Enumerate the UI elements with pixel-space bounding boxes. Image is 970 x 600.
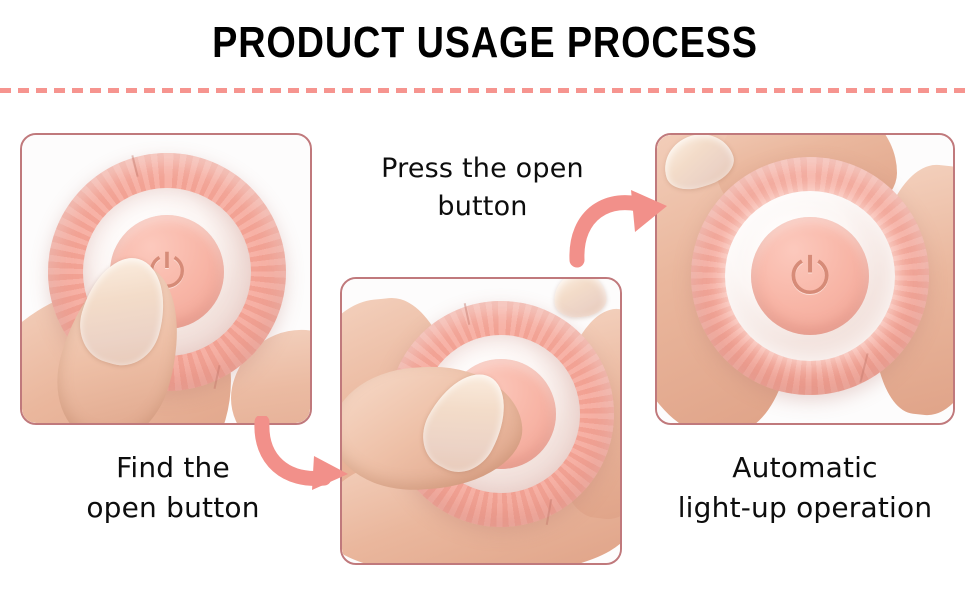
- step-3-photo: ⏻: [657, 135, 953, 423]
- step-1-photo: ⏻: [22, 135, 310, 423]
- step-1-photo-panel: ⏻: [20, 133, 312, 425]
- page-title: PRODUCT USAGE PROCESS: [68, 17, 902, 69]
- step-2-photo-panel: [340, 277, 622, 565]
- step-2-caption-line-2: button: [345, 188, 620, 226]
- dashed-divider: [0, 88, 970, 93]
- power-icon[interactable]: ⏻: [751, 217, 869, 335]
- infographic-root: PRODUCT USAGE PROCESS ⏻: [0, 0, 970, 600]
- step-3-photo-panel: ⏻: [655, 133, 955, 425]
- step-2-photo: [342, 279, 620, 563]
- step-3-caption: Automatic light-up operation: [640, 448, 970, 528]
- device-button-cap[interactable]: ⏻: [751, 217, 869, 335]
- step-3-caption-line-1: Automatic: [640, 448, 970, 488]
- step-2-caption: Press the open button: [345, 150, 620, 226]
- step-3-caption-line-2: light-up operation: [640, 488, 970, 528]
- step-2-caption-line-1: Press the open: [345, 150, 620, 188]
- step-1-caption-line-1: Find the: [28, 448, 318, 488]
- device-puck: ⏻: [691, 157, 929, 395]
- step-1-caption: Find the open button: [28, 448, 318, 528]
- step-1-caption-line-2: open button: [28, 488, 318, 528]
